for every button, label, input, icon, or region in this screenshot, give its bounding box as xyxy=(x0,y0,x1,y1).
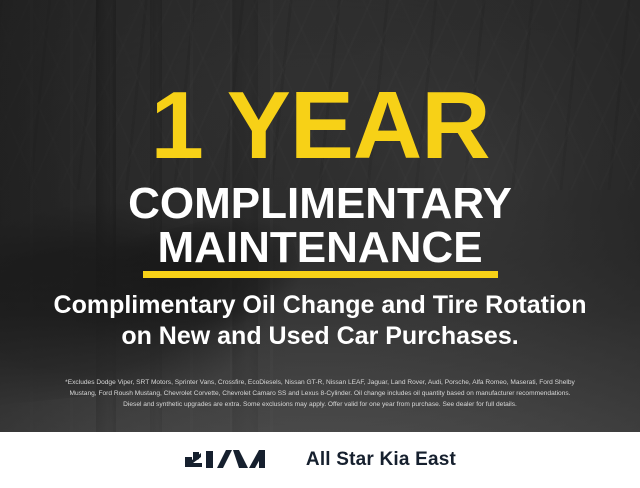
hero-section: 1 YEAR COMPLIMENTARY MAINTENANCE Complim… xyxy=(0,0,640,432)
footer-bar: All Star Kia East xyxy=(0,432,640,488)
disclaimer-text: *Excludes Dodge Viper, SRT Motors, Sprin… xyxy=(14,377,626,410)
kia-logo xyxy=(184,447,280,473)
hero-copy: 1 YEAR COMPLIMENTARY MAINTENANCE Complim… xyxy=(0,0,640,432)
headline-primary: 1 YEAR xyxy=(0,78,640,174)
headline-maintenance: MAINTENANCE xyxy=(0,226,640,270)
tagline-line-2: on New and Used Car Purchases. xyxy=(0,321,640,352)
dealer-name: All Star Kia East xyxy=(306,449,456,471)
tagline-line-1: Complimentary Oil Change and Tire Rotati… xyxy=(54,291,587,319)
disclaimer-line-1: *Excludes Dodge Viper, SRT Motors, Sprin… xyxy=(14,377,626,388)
disclaimer-line-3: Diesel and synthetic upgrades are extra.… xyxy=(14,399,626,410)
headline-complimentary: COMPLIMENTARY xyxy=(0,182,640,226)
tagline: Complimentary Oil Change and Tire Rotati… xyxy=(0,290,640,352)
promo-banner: 1 YEAR COMPLIMENTARY MAINTENANCE Complim… xyxy=(0,0,640,488)
disclaimer-line-2: Mustang, Ford Roush Mustang, Chevrolet C… xyxy=(14,388,626,399)
yellow-divider-bar xyxy=(143,271,498,278)
